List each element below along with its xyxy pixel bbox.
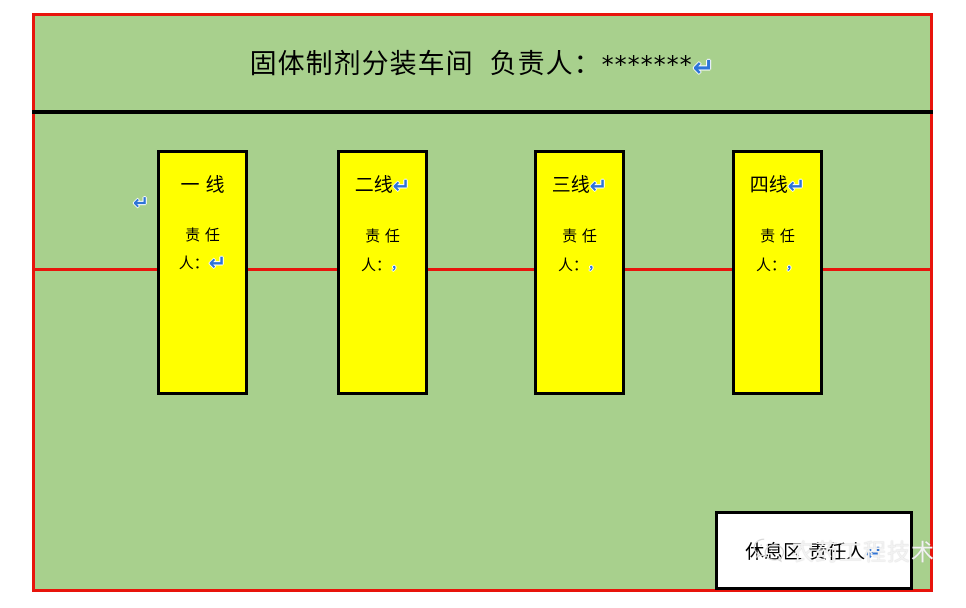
supervisor-value: ******* [602, 51, 693, 79]
line-box-3[interactable]: 三线↵ 责 任人：， [534, 150, 625, 395]
line-box-3-role-value: 人： [558, 256, 588, 274]
line-box-2-title: 二线↵ [340, 175, 425, 197]
page-title: 固体制剂分装车间负责人：*******↵ [250, 42, 716, 81]
line-box-1[interactable]: 一 线 责 任人：↵ [157, 150, 248, 395]
paragraph-mark-icon: ↵ [693, 55, 716, 81]
line-box-1-role-value: 人： [179, 254, 209, 272]
line-box-3-title: 三线↵ [537, 175, 622, 197]
divider-line-black [32, 110, 933, 114]
line-box-2-role: 责 任人：， [340, 222, 425, 279]
line-box-4-role-value: 人： [756, 256, 786, 274]
paragraph-mark-icon: ↵ [209, 253, 227, 274]
line-box-4-role-label: 责 任 [760, 227, 795, 245]
paragraph-mark-icon: ↵ [788, 176, 806, 197]
line-box-4[interactable]: 四线↵ 责 任人：， [732, 150, 823, 395]
paragraph-mark-icon: ↵ [865, 543, 883, 564]
floor-paragraph-mark-icon: ↵ [133, 194, 149, 213]
line-box-2-role-label: 责 任 [365, 227, 400, 245]
paragraph-mark-icon: ↵ [590, 176, 608, 197]
workshop-title-band: 固体制剂分装车间负责人：*******↵ [32, 13, 933, 110]
line-box-4-title: 四线↵ [735, 175, 820, 197]
floorplan-canvas: 固体制剂分装车间负责人：*******↵ ↵ 一 线 责 任人：↵ 二线↵ 责 … [0, 0, 966, 608]
line-box-3-role: 责 任人：， [537, 222, 622, 279]
comma-mark-icon: ， [391, 259, 404, 272]
rest-area-box[interactable]: 休息区 责任人↵ [715, 511, 913, 590]
line-box-3-role-label: 责 任 [562, 227, 597, 245]
line-box-2[interactable]: 二线↵ 责 任人：， [337, 150, 428, 395]
rest-area-label: 休息区 责任人↵ [745, 537, 883, 564]
line-box-1-role-label: 责 任 [185, 226, 220, 244]
comma-mark-icon: ， [588, 259, 601, 272]
line-box-1-title: 一 线 [160, 175, 245, 196]
workshop-name: 固体制剂分装车间 [250, 49, 474, 80]
line-box-1-role: 责 任人：↵ [160, 221, 245, 278]
supervisor-label: 负责人： [490, 49, 602, 80]
paragraph-mark-icon: ↵ [393, 176, 411, 197]
line-box-2-role-value: 人： [361, 256, 391, 274]
line-box-4-role: 责 任人：， [735, 222, 820, 279]
comma-mark-icon: ， [786, 259, 799, 272]
